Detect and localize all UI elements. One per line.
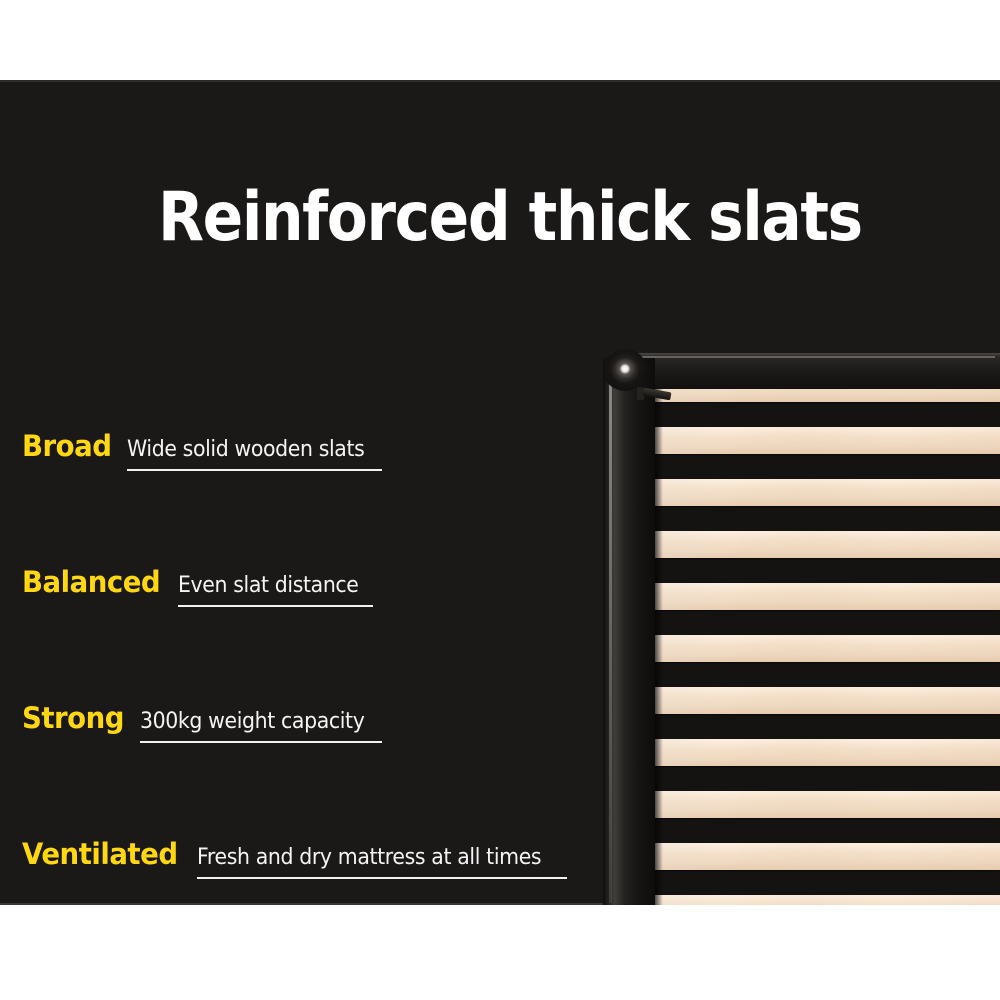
wooden-slat	[650, 843, 1000, 870]
top-horizontal-rail	[611, 353, 1000, 389]
feature-term-balanced: Balanced	[22, 565, 160, 599]
feature-row: Balanced Even slat distance	[0, 471, 560, 607]
rail-highlight	[615, 356, 995, 358]
feature-desc-ventilated: Fresh and dry mattress at all times	[197, 845, 541, 870]
wooden-slat	[650, 895, 1000, 905]
page-title: Reinforced thick slats	[158, 184, 862, 252]
feature-desc-underline: Wide solid wooden slats	[127, 437, 382, 471]
feature-desc-underline: Even slat distance	[178, 573, 372, 607]
feature-term-broad: Broad	[22, 429, 111, 463]
feature-row: Ventilated Fresh and dry mattress at all…	[0, 743, 560, 879]
feature-term-strong: Strong	[22, 701, 124, 735]
panel-top-edge	[0, 80, 1000, 82]
feature-term-ventilated: Ventilated	[22, 837, 178, 871]
wooden-slat	[650, 739, 1000, 766]
wooden-slat	[650, 531, 1000, 558]
feature-desc-broad: Wide solid wooden slats	[127, 437, 364, 462]
feature-desc-strong: 300kg weight capacity	[140, 709, 364, 734]
corner-bolt-center-icon	[612, 358, 638, 382]
product-feature-banner: Reinforced thick slats Broad Wide solid …	[0, 0, 1000, 1000]
wooden-slat	[650, 687, 1000, 714]
wooden-slat	[650, 635, 1000, 662]
wooden-slat	[650, 583, 1000, 610]
post-highlight	[609, 360, 612, 903]
feature-desc-underline: Fresh and dry mattress at all times	[197, 845, 567, 879]
wooden-slat	[650, 427, 1000, 454]
wooden-slat	[650, 791, 1000, 818]
wooden-slats-group	[650, 365, 1000, 905]
feature-desc-balanced: Even slat distance	[178, 573, 359, 598]
wooden-slat	[650, 479, 1000, 506]
feature-row: Broad Wide solid wooden slats	[0, 335, 560, 471]
feature-row: Strong 300kg weight capacity	[0, 607, 560, 743]
feature-desc-underline: 300kg weight capacity	[140, 709, 381, 743]
feature-list: Broad Wide solid wooden slats Balanced E…	[0, 335, 560, 879]
bed-frame-photo	[595, 270, 1000, 905]
dark-content-panel: Reinforced thick slats Broad Wide solid …	[0, 80, 1000, 905]
